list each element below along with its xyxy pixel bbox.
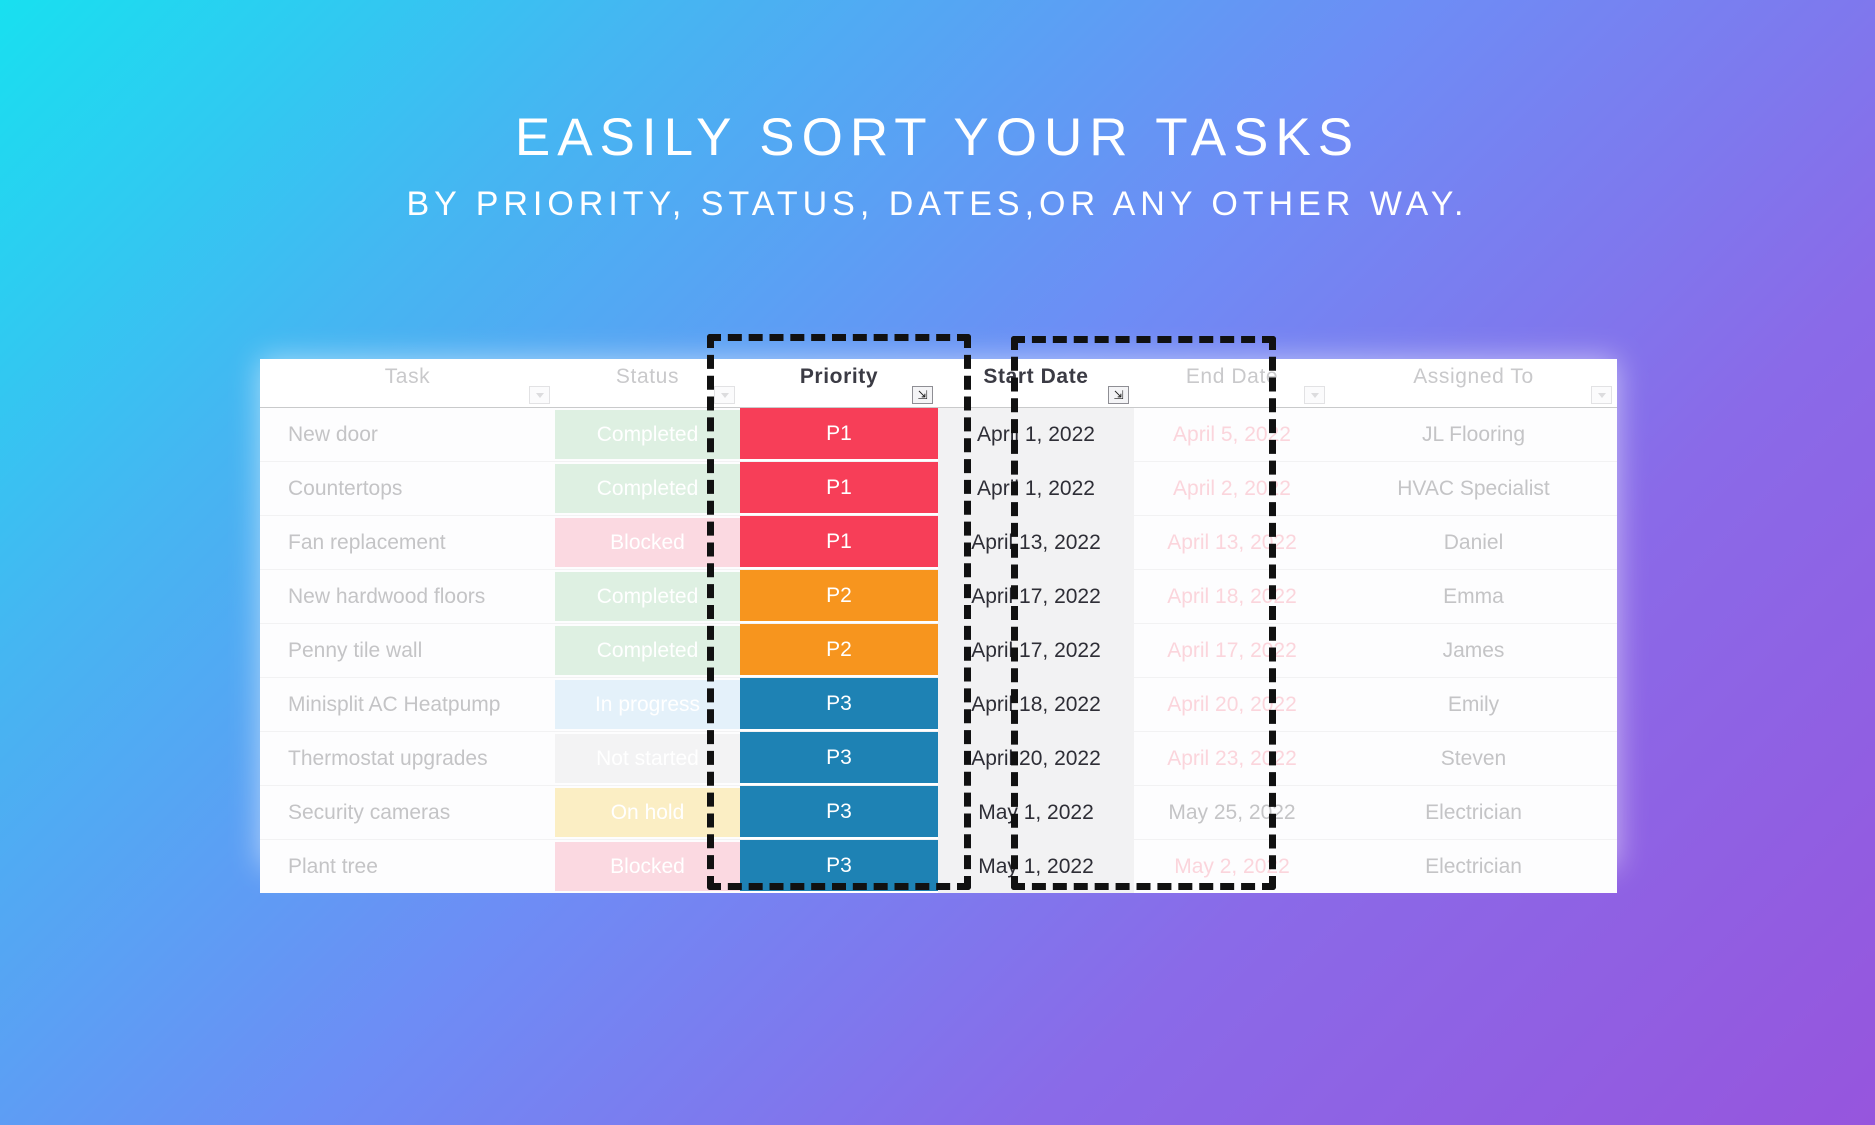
cell-start-date[interactable]: May 1, 2022 <box>938 786 1134 840</box>
table-row[interactable]: New doorCompletedP1April 1, 2022April 5,… <box>260 408 1617 462</box>
sort-applied-icon-priority[interactable]: ⇲ <box>912 386 933 404</box>
cell-priority[interactable]: P3 <box>740 840 938 894</box>
column-header-priority[interactable]: Priority ⇲ <box>740 359 938 408</box>
chevron-down-icon-task[interactable] <box>529 386 550 404</box>
cell-status[interactable]: Blocked <box>555 840 740 894</box>
cell-status[interactable]: Completed <box>555 462 740 516</box>
cell-assigned-to[interactable]: JL Flooring <box>1330 408 1617 462</box>
cell-task[interactable]: Fan replacement <box>260 516 555 570</box>
cell-task[interactable]: Thermostat upgrades <box>260 732 555 786</box>
chevron-down-icon-status[interactable] <box>714 386 735 404</box>
table-row[interactable]: Thermostat upgradesNot startedP3April 20… <box>260 732 1617 786</box>
priority-badge: P2 <box>740 624 938 677</box>
cell-assigned-to[interactable]: Electrician <box>1330 840 1617 894</box>
task-table-card: Task Status Priority ⇲ <box>260 359 1617 867</box>
cell-start-date[interactable]: April 1, 2022 <box>938 462 1134 516</box>
status-badge: Blocked <box>555 842 740 891</box>
cell-start-date[interactable]: April 20, 2022 <box>938 732 1134 786</box>
status-badge: Completed <box>555 572 740 621</box>
column-header-assigned-to[interactable]: Assigned To <box>1330 359 1617 408</box>
table-body: New doorCompletedP1April 1, 2022April 5,… <box>260 408 1617 894</box>
cell-end-date[interactable]: April 5, 2022 <box>1134 408 1330 462</box>
page-title: EASILY SORT YOUR TASKS <box>0 110 1875 166</box>
priority-badge: P1 <box>740 516 938 569</box>
cell-assigned-to[interactable]: Daniel <box>1330 516 1617 570</box>
cell-start-date[interactable]: April 17, 2022 <box>938 624 1134 678</box>
column-header-status[interactable]: Status <box>555 359 740 408</box>
cell-end-date[interactable]: May 25, 2022 <box>1134 786 1330 840</box>
cell-assigned-to[interactable]: HVAC Specialist <box>1330 462 1617 516</box>
cell-task[interactable]: Countertops <box>260 462 555 516</box>
cell-assigned-to[interactable]: Emma <box>1330 570 1617 624</box>
cell-assigned-to[interactable]: Emily <box>1330 678 1617 732</box>
task-table: Task Status Priority ⇲ <box>260 359 1617 893</box>
cell-end-date[interactable]: April 2, 2022 <box>1134 462 1330 516</box>
status-badge: Completed <box>555 464 740 513</box>
priority-badge: P1 <box>740 408 938 461</box>
cell-task[interactable]: Minisplit AC Heatpump <box>260 678 555 732</box>
cell-status[interactable]: Completed <box>555 408 740 462</box>
column-header-label-end-date: End Date <box>1134 365 1330 389</box>
table-header-row: Task Status Priority ⇲ <box>260 359 1617 408</box>
chevron-down-icon-assigned-to[interactable] <box>1591 386 1612 404</box>
cell-status[interactable]: Completed <box>555 570 740 624</box>
cell-status[interactable]: Not started <box>555 732 740 786</box>
cell-priority[interactable]: P1 <box>740 462 938 516</box>
cell-end-date[interactable]: May 2, 2022 <box>1134 840 1330 894</box>
cell-status[interactable]: Blocked <box>555 516 740 570</box>
status-badge: In progress <box>555 680 740 729</box>
column-header-label-status: Status <box>555 365 740 389</box>
cell-assigned-to[interactable]: Steven <box>1330 732 1617 786</box>
column-header-end-date[interactable]: End Date <box>1134 359 1330 408</box>
cell-assigned-to[interactable]: James <box>1330 624 1617 678</box>
cell-start-date[interactable]: April 18, 2022 <box>938 678 1134 732</box>
cell-start-date[interactable]: May 1, 2022 <box>938 840 1134 894</box>
cell-task[interactable]: Penny tile wall <box>260 624 555 678</box>
cell-task[interactable]: New hardwood floors <box>260 570 555 624</box>
cell-priority[interactable]: P2 <box>740 570 938 624</box>
priority-badge: P3 <box>740 786 938 839</box>
status-badge: Completed <box>555 410 740 459</box>
table-row[interactable]: Fan replacementBlockedP1April 13, 2022Ap… <box>260 516 1617 570</box>
headline-block: EASILY SORT YOUR TASKS BY PRIORITY, STAT… <box>0 110 1875 224</box>
cell-status[interactable]: In progress <box>555 678 740 732</box>
status-badge: Not started <box>555 734 740 783</box>
table-row[interactable]: New hardwood floorsCompletedP2April 17, … <box>260 570 1617 624</box>
cell-status[interactable]: Completed <box>555 624 740 678</box>
column-header-label-start-date: Start Date <box>938 365 1134 389</box>
cell-end-date[interactable]: April 13, 2022 <box>1134 516 1330 570</box>
cell-priority[interactable]: P1 <box>740 408 938 462</box>
column-header-label-assigned-to: Assigned To <box>1330 365 1617 389</box>
cell-end-date[interactable]: April 23, 2022 <box>1134 732 1330 786</box>
cell-start-date[interactable]: April 1, 2022 <box>938 408 1134 462</box>
cell-start-date[interactable]: April 13, 2022 <box>938 516 1134 570</box>
cell-end-date[interactable]: April 18, 2022 <box>1134 570 1330 624</box>
priority-badge: P2 <box>740 570 938 623</box>
table-row[interactable]: Security camerasOn holdP3May 1, 2022May … <box>260 786 1617 840</box>
table-row[interactable]: Minisplit AC HeatpumpIn progressP3April … <box>260 678 1617 732</box>
column-header-label-task: Task <box>260 365 555 389</box>
priority-badge: P1 <box>740 462 938 515</box>
cell-priority[interactable]: P1 <box>740 516 938 570</box>
column-header-start-date[interactable]: Start Date ⇲ <box>938 359 1134 408</box>
table-row[interactable]: Plant treeBlockedP3May 1, 2022May 2, 202… <box>260 840 1617 894</box>
cell-start-date[interactable]: April 17, 2022 <box>938 570 1134 624</box>
cell-assigned-to[interactable]: Electrician <box>1330 786 1617 840</box>
cell-status[interactable]: On hold <box>555 786 740 840</box>
status-badge: On hold <box>555 788 740 837</box>
table-row[interactable]: Penny tile wallCompletedP2April 17, 2022… <box>260 624 1617 678</box>
cell-task[interactable]: Security cameras <box>260 786 555 840</box>
cell-priority[interactable]: P2 <box>740 624 938 678</box>
column-header-label-priority: Priority <box>740 365 938 389</box>
cell-task[interactable]: Plant tree <box>260 840 555 894</box>
cell-end-date[interactable]: April 20, 2022 <box>1134 678 1330 732</box>
cell-priority[interactable]: P3 <box>740 786 938 840</box>
cell-end-date[interactable]: April 17, 2022 <box>1134 624 1330 678</box>
column-header-task[interactable]: Task <box>260 359 555 408</box>
cell-priority[interactable]: P3 <box>740 732 938 786</box>
status-badge: Blocked <box>555 518 740 567</box>
status-badge: Completed <box>555 626 740 675</box>
cell-task[interactable]: New door <box>260 408 555 462</box>
priority-badge: P3 <box>740 678 938 731</box>
table-row[interactable]: CountertopsCompletedP1April 1, 2022April… <box>260 462 1617 516</box>
cell-priority[interactable]: P3 <box>740 678 938 732</box>
page-subtitle: BY PRIORITY, STATUS, DATES,OR ANY OTHER … <box>0 185 1875 224</box>
sort-applied-icon-start-date[interactable]: ⇲ <box>1108 386 1129 404</box>
chevron-down-icon-end-date[interactable] <box>1304 386 1325 404</box>
priority-badge: P3 <box>740 840 938 893</box>
priority-badge: P3 <box>740 732 938 785</box>
